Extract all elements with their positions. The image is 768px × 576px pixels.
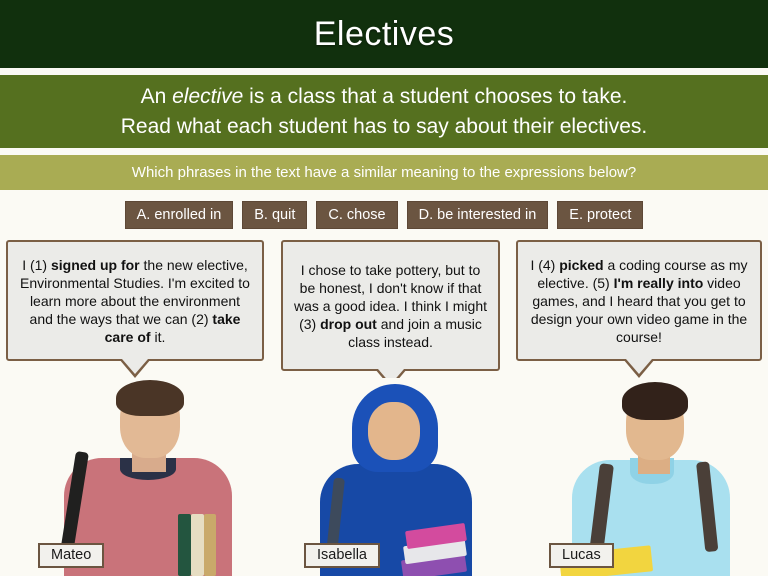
- speech-bubble-isabella: I chose to take pottery, but to be hones…: [281, 240, 500, 371]
- intro-line-1: An elective is a class that a student ch…: [141, 82, 628, 112]
- speech-bubbles-row: I (1) signed up for the new elective, En…: [0, 240, 768, 380]
- option-chip-d[interactable]: D. be interested in: [407, 201, 549, 229]
- option-chip-b[interactable]: B. quit: [242, 201, 307, 229]
- name-tag-lucas: Lucas: [549, 543, 614, 568]
- slide-root: Electives An elective is a class that a …: [0, 0, 768, 576]
- options-row: A. enrolled in B. quit C. chose D. be in…: [0, 200, 768, 230]
- book-shape: [191, 514, 204, 576]
- intro-line-2: Read what each student has to say about …: [121, 112, 648, 142]
- question-band: Which phrases in the text have a similar…: [0, 155, 768, 190]
- speech-bubble-mateo-text: I (1) signed up for the new elective, En…: [17, 256, 253, 346]
- name-tag-mateo: Mateo: [38, 543, 104, 568]
- speech-bubble-mateo: I (1) signed up for the new elective, En…: [6, 240, 264, 361]
- student-photos-row: [0, 378, 768, 576]
- question-prompt: Which phrases in the text have a similar…: [132, 165, 636, 180]
- speech-bubble-lucas: I (4) picked a coding course as my elect…: [516, 240, 762, 361]
- speech-bubble-lucas-text: I (4) picked a coding course as my elect…: [527, 256, 751, 346]
- option-chip-a[interactable]: A. enrolled in: [125, 201, 234, 229]
- intro-line-1-before: An: [141, 85, 173, 108]
- option-chip-e[interactable]: E. protect: [557, 201, 643, 229]
- hair-shape: [622, 382, 688, 420]
- intro-band: An elective is a class that a student ch…: [0, 75, 768, 148]
- speech-bubble-isabella-text: I chose to take pottery, but to be hones…: [292, 261, 489, 351]
- option-chip-c[interactable]: C. chose: [316, 201, 397, 229]
- intro-line-1-after: is a class that a student chooses to tak…: [243, 85, 627, 108]
- book-shape: [178, 514, 191, 576]
- face-shape: [368, 402, 420, 460]
- intro-keyword-elective: elective: [172, 85, 243, 108]
- speech-bubble-tail-fill: [122, 359, 148, 374]
- speech-bubble-tail-fill: [626, 359, 652, 374]
- title-bar: Electives: [0, 0, 768, 68]
- name-tag-isabella: Isabella: [304, 543, 380, 568]
- book-shape: [204, 514, 216, 576]
- page-title: Electives: [314, 17, 455, 51]
- hair-shape: [116, 380, 184, 416]
